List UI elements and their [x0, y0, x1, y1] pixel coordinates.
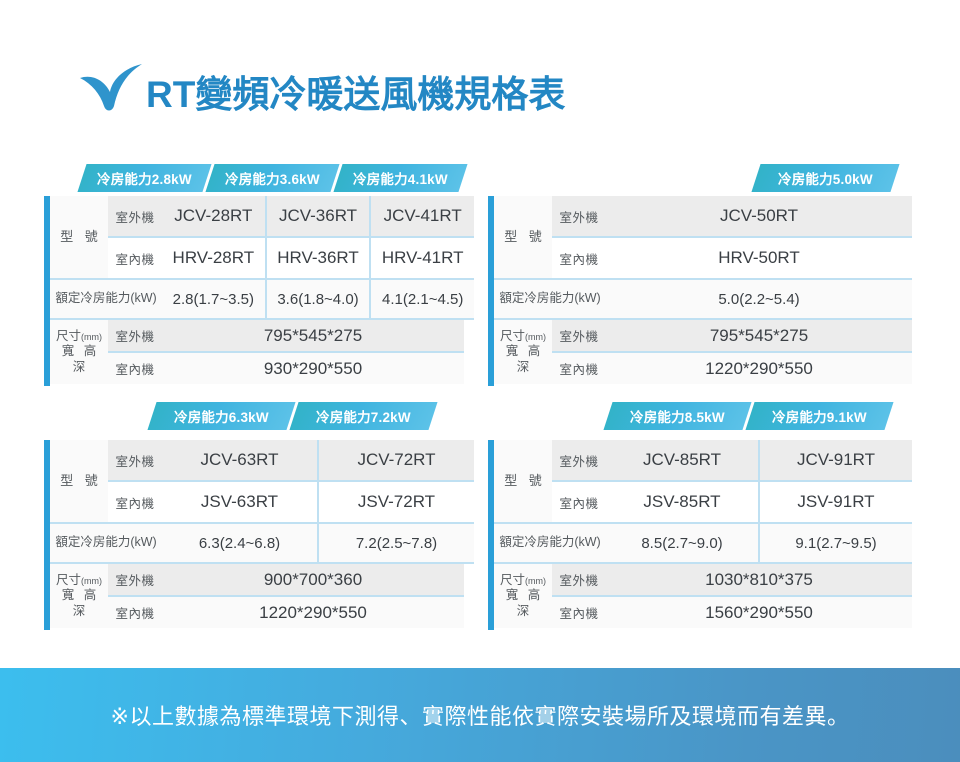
table-cell-capacity: 4.1(2.1~4.5): [369, 280, 474, 318]
capacity-tab-4.1kw[interactable]: 冷房能力4.1kW: [333, 164, 467, 192]
table-cell-indoor-model: JSV-63RT: [162, 482, 317, 522]
capacity-section: 額定冷房能力(kW) 8.5(2.7~9.0) 9.1(2.7~9.5): [494, 522, 912, 562]
spec-table-4: 型 號 室外機 JCV-85RT JCV-91RT 室內機 JSV-85RT J…: [488, 440, 912, 630]
footer-note-banner: ※以上數據為標準環境下測得、實際性能依實際安裝場所及環境而有差異。: [0, 668, 960, 762]
capacity-tab-strip-1: 冷房能力2.8kW 冷房能力3.6kW 冷房能力4.1kW: [82, 164, 465, 192]
capacity-tab-9.1kw[interactable]: 冷房能力9.1kW: [745, 402, 893, 430]
row-label-model: 型 號: [494, 196, 552, 278]
sub-label-indoor: 室內機: [108, 353, 162, 384]
table-cell-dim-indoor: 1220*290*550: [162, 597, 464, 628]
table-cell-capacity: 5.0(2.2~5.4): [606, 280, 912, 318]
table-cell-indoor-model: HRV-50RT: [606, 238, 912, 278]
table-cell-outdoor-model: JCV-36RT: [265, 196, 370, 236]
row-label-dimension: 尺寸(mm) 寬 高 深: [50, 320, 108, 384]
table-cell-outdoor-model: JCV-63RT: [162, 440, 317, 480]
sub-label-indoor: 室內機: [108, 238, 162, 278]
row-label-capacity: 額定冷房能力(kW): [494, 280, 606, 318]
sub-label-outdoor: 室外機: [552, 440, 606, 480]
page-header: RT變頻冷暖送風機規格表: [78, 62, 565, 126]
table-cell-outdoor-model: JCV-41RT: [369, 196, 474, 236]
table-cell-dim-indoor: 1220*290*550: [606, 353, 912, 384]
table-cell-capacity: 6.3(2.4~6.8): [162, 524, 317, 562]
spec-table-2: 型 號 室外機 JCV-50RT 室內機 HRV-50RT 額定冷房能力(kW)…: [488, 196, 912, 386]
capacity-tab-8.5kw[interactable]: 冷房能力8.5kW: [603, 402, 751, 430]
capacity-tab-label: 冷房能力5.0kW: [778, 168, 873, 188]
sub-label-outdoor: 室外機: [108, 564, 162, 595]
footer-note-text: ※以上數據為標準環境下測得、實際性能依實際安裝場所及環境而有差異。: [111, 699, 850, 731]
table-cell-indoor-model: HRV-41RT: [369, 238, 474, 278]
page-title: RT變頻冷暖送風機規格表: [146, 76, 565, 113]
dimension-label-line1: 尺寸(mm): [56, 573, 102, 589]
table-cell-indoor-model: JSV-91RT: [758, 482, 912, 522]
table-cell-indoor-model: JSV-85RT: [606, 482, 758, 522]
sub-label-outdoor: 室外機: [108, 196, 162, 236]
row-label-capacity: 額定冷房能力(kW): [494, 524, 606, 562]
table-cell-dim-outdoor: 795*545*275: [162, 320, 464, 351]
model-section: 型 號 室外機 JCV-63RT JCV-72RT 室內機 JSV-63RT J…: [50, 440, 474, 522]
table-cell-outdoor-model: JCV-85RT: [606, 440, 758, 480]
row-label-capacity: 額定冷房能力(kW): [50, 524, 162, 562]
capacity-tab-strip-4: 冷房能力8.5kW 冷房能力9.1kW: [608, 402, 892, 430]
capacity-tab-5.0kw[interactable]: 冷房能力5.0kW: [751, 164, 899, 192]
table-cell-dim-indoor: 930*290*550: [162, 353, 464, 384]
dimension-label-line2: 寬 高 深: [50, 588, 108, 619]
capacity-tab-label: 冷房能力7.2kW: [316, 406, 411, 426]
dimension-label-line2: 寬 高 深: [494, 588, 552, 619]
capacity-section: 額定冷房能力(kW) 6.3(2.4~6.8) 7.2(2.5~7.8): [50, 522, 474, 562]
capacity-tab-3.6kw[interactable]: 冷房能力3.6kW: [205, 164, 339, 192]
sub-label-indoor: 室內機: [108, 597, 162, 628]
model-section: 型 號 室外機 JCV-50RT 室內機 HRV-50RT: [494, 196, 912, 278]
table-cell-indoor-model: HRV-36RT: [265, 238, 370, 278]
row-label-dimension: 尺寸(mm) 寬 高 深: [494, 564, 552, 628]
sub-label-outdoor: 室外機: [552, 564, 606, 595]
table-cell-dim-outdoor: 1030*810*375: [606, 564, 912, 595]
table-cell-capacity: 9.1(2.7~9.5): [758, 524, 912, 562]
spec-table-1: 型 號 室外機 JCV-28RT JCV-36RT JCV-41RT 室內機 H…: [44, 196, 474, 386]
table-cell-capacity: 2.8(1.7~3.5): [162, 280, 265, 318]
row-label-model: 型 號: [494, 440, 552, 522]
capacity-tab-label: 冷房能力3.6kW: [225, 168, 320, 188]
table-cell-dim-outdoor: 900*700*360: [162, 564, 464, 595]
capacity-tab-strip-2: 冷房能力5.0kW: [756, 164, 898, 192]
table-cell-outdoor-model: JCV-72RT: [317, 440, 474, 480]
sub-label-outdoor: 室外機: [108, 440, 162, 480]
table-cell-capacity: 8.5(2.7~9.0): [606, 524, 758, 562]
sub-label-indoor: 室內機: [552, 597, 606, 628]
capacity-tab-label: 冷房能力8.5kW: [630, 406, 725, 426]
capacity-section: 額定冷房能力(kW) 2.8(1.7~3.5) 3.6(1.8~4.0) 4.1…: [50, 278, 474, 318]
table-cell-outdoor-model: JCV-50RT: [606, 196, 912, 236]
capacity-tab-strip-3: 冷房能力6.3kW 冷房能力7.2kW: [152, 402, 436, 430]
capacity-tab-label: 冷房能力2.8kW: [97, 168, 192, 188]
table-cell-indoor-model: JSV-72RT: [317, 482, 474, 522]
row-label-model: 型 號: [50, 196, 108, 278]
sub-label-indoor: 室內機: [108, 482, 162, 522]
sub-label-indoor: 室內機: [552, 353, 606, 384]
spec-table-3: 型 號 室外機 JCV-63RT JCV-72RT 室內機 JSV-63RT J…: [44, 440, 474, 630]
dimension-label-line1: 尺寸(mm): [500, 329, 546, 345]
row-label-model: 型 號: [50, 440, 108, 522]
sub-label-outdoor: 室外機: [552, 196, 606, 236]
dimension-label-line2: 寬 高 深: [50, 344, 108, 375]
row-label-capacity: 額定冷房能力(kW): [50, 280, 162, 318]
row-label-dimension: 尺寸(mm) 寬 高 深: [494, 320, 552, 384]
dimension-section: 尺寸(mm) 寬 高 深 室外機 795*545*275 室內機 930*290…: [50, 318, 474, 384]
capacity-tab-6.3kw[interactable]: 冷房能力6.3kW: [147, 402, 295, 430]
row-label-dimension: 尺寸(mm) 寬 高 深: [50, 564, 108, 628]
dimension-label-line1: 尺寸(mm): [56, 329, 102, 345]
dimension-section: 尺寸(mm) 寬 高 深 室外機 795*545*275 室內機 1220*29…: [494, 318, 912, 384]
model-section: 型 號 室外機 JCV-85RT JCV-91RT 室內機 JSV-85RT J…: [494, 440, 912, 522]
sub-label-indoor: 室內機: [552, 238, 606, 278]
dimension-label-line2: 寬 高 深: [494, 344, 552, 375]
table-cell-capacity: 3.6(1.8~4.0): [265, 280, 370, 318]
table-cell-indoor-model: HRV-28RT: [162, 238, 265, 278]
capacity-tab-label: 冷房能力9.1kW: [772, 406, 867, 426]
table-cell-dim-indoor: 1560*290*550: [606, 597, 912, 628]
dimension-section: 尺寸(mm) 寬 高 深 室外機 900*700*360 室內機 1220*29…: [50, 562, 474, 628]
table-cell-outdoor-model: JCV-91RT: [758, 440, 912, 480]
sub-label-indoor: 室內機: [552, 482, 606, 522]
capacity-tab-label: 冷房能力6.3kW: [174, 406, 269, 426]
model-section: 型 號 室外機 JCV-28RT JCV-36RT JCV-41RT 室內機 H…: [50, 196, 474, 278]
table-cell-capacity: 7.2(2.5~7.8): [317, 524, 474, 562]
sub-label-outdoor: 室外機: [552, 320, 606, 351]
dimension-section: 尺寸(mm) 寬 高 深 室外機 1030*810*375 室內機 1560*2…: [494, 562, 912, 628]
swoosh-logo-icon: [78, 62, 144, 114]
capacity-section: 額定冷房能力(kW) 5.0(2.2~5.4): [494, 278, 912, 318]
capacity-tab-7.2kw[interactable]: 冷房能力7.2kW: [289, 402, 437, 430]
table-cell-dim-outdoor: 795*545*275: [606, 320, 912, 351]
table-cell-outdoor-model: JCV-28RT: [162, 196, 265, 236]
capacity-tab-label: 冷房能力4.1kW: [353, 168, 448, 188]
dimension-label-line1: 尺寸(mm): [500, 573, 546, 589]
capacity-tab-2.8kw[interactable]: 冷房能力2.8kW: [77, 164, 211, 192]
sub-label-outdoor: 室外機: [108, 320, 162, 351]
